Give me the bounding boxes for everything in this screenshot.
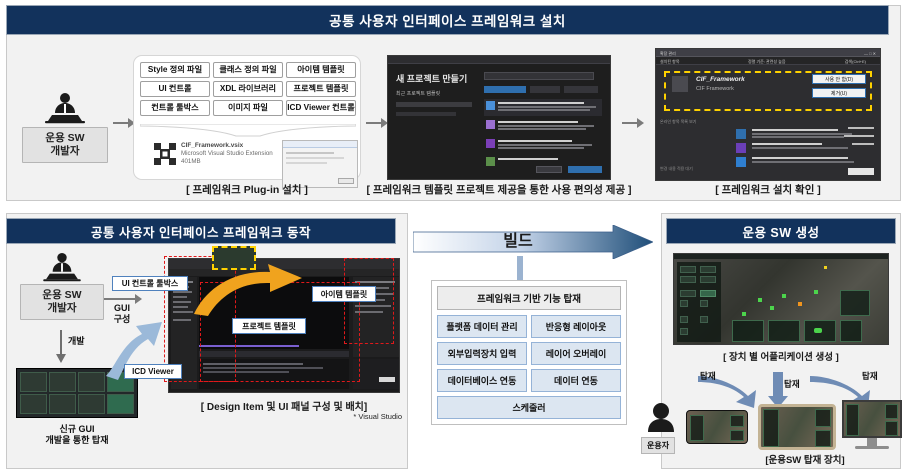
function-cell-scheduler: 스케줄러 (437, 396, 621, 419)
extension-disable-button[interactable]: 사용 안 함(D) (812, 74, 866, 84)
footnote-visual-studio: * Visual Studio (166, 412, 402, 421)
tactical-app-screenshot (673, 253, 889, 345)
build-label: 빌드 (413, 227, 623, 251)
caption-template-project: [ 프레임워크 템플릿 프로젝트 제공을 통한 사용 편의성 제공 ] (362, 182, 636, 197)
tag-icd-viewer: ICD Viewer (124, 364, 182, 379)
extension-name: CIF_Framework (696, 76, 745, 83)
function-cell: 플랫폼 데이터 관리 (437, 315, 527, 338)
asset-chip-grid: Style 정의 파일 클래스 정의 파일 아이템 템플릿 UI 컨트롤 XDL… (140, 62, 356, 116)
vsix-text-block: CIF_Framework.vsix Microsoft Visual Stud… (181, 142, 273, 166)
extension-subtitle: CIF Framework (696, 86, 734, 92)
device-phone (686, 410, 748, 444)
vsix-desc: Microsoft Visual Studio Extension (181, 150, 273, 157)
asset-chip: UI 컨트롤 (140, 81, 210, 97)
function-cell: 데이터베이스 연동 (437, 369, 527, 392)
asset-chip: ICD Viewer 컨트롤 (286, 100, 356, 116)
vs-extension-manager-screenshot: 확장 관리 — □ ✕ 설치된 항목 정렬 기준: 관련성 높음 검색(Ctrl… (655, 48, 881, 181)
device-tablet (758, 404, 836, 450)
deploy-label-monitor: 탑재 (862, 370, 878, 382)
caption-install-verify: [ 프레임워크 설치 확인 ] (655, 182, 881, 197)
function-cell: 레이어 오버레이 (531, 342, 621, 365)
extension-uninstall-button[interactable]: 제거(U) (812, 88, 866, 98)
developer-actor-label: 운용 SW 개발자 (22, 127, 108, 163)
caption-design-item: [ Design Item 및 UI 패널 구성 및 배치] (166, 398, 402, 413)
tag-ui-control-toolbox: UI 컨트롤 툴박스 (112, 276, 188, 291)
vsix-name: CIF_Framework.vsix (181, 142, 243, 149)
asset-chip: 클래스 정의 파일 (213, 62, 283, 78)
label-new-gui: 신규 GUI 개발을 통한 탑재 (10, 424, 144, 446)
asset-chip: 아이템 템플릿 (286, 62, 356, 78)
vsix-package: CIF_Framework.vsix Microsoft Visual Stud… (154, 142, 273, 166)
bl-developer-actor: 운용 SW 개발자 (20, 252, 104, 320)
gui-tile (49, 372, 76, 392)
framework-functions-card: 프레임워크 기반 기능 탑재 플랫폼 데이터 관리 반응형 레이아웃 외부입력장… (431, 280, 627, 425)
build-section: 빌드 프레임워크 기반 기능 탑재 플랫폼 데이터 관리 반응형 레이아웃 외부… (413, 218, 653, 468)
arrow-dialog-to-extmgr (622, 122, 638, 124)
operator-icon (646, 402, 676, 432)
extension-close-button[interactable] (848, 168, 874, 175)
gui-tile (107, 394, 134, 414)
operator-label: 운용자 (641, 437, 675, 454)
vs-dialog-title: 새 프로젝트 만들기 (396, 72, 467, 85)
operation-section-title: 공통 사용자 인터페이스 프레임워크 동작 (6, 218, 396, 244)
vsix-size: 401MB (181, 158, 201, 165)
slide-root: 공통 사용자 인터페이스 프레임워크 설치 운용 SW 개발자 Style 정의… (0, 0, 907, 474)
function-cell: 반응형 레이아웃 (531, 315, 621, 338)
plugin-assets-card: Style 정의 파일 클래스 정의 파일 아이템 템플릿 UI 컨트롤 XDL… (133, 55, 361, 180)
caption-plugin-install: [ 프레임워크 Plug-in 설치 ] (133, 182, 361, 197)
arrow-assets-to-dialog (366, 122, 382, 124)
vsix-package-icon (154, 143, 176, 165)
vs-dialog-recent-label: 최근 프로젝트 템플릿 (396, 90, 440, 97)
asset-chip: 프로젝트 템플릿 (286, 81, 356, 97)
caption-app-generation: [ 장치 별 어플리케이션 생성 ] (665, 349, 897, 363)
vs-dialog-cancel-button[interactable] (536, 166, 562, 173)
function-cell: 데이터 연동 (531, 369, 621, 392)
funnel-shape (140, 124, 356, 138)
device-monitor (842, 400, 902, 452)
extension-icon (672, 76, 688, 92)
framework-functions-title: 프레임워크 기반 기능 탑재 (437, 286, 621, 310)
tag-item-template: 아이템 템플릿 (312, 286, 376, 302)
developer-actor: 운용 SW 개발자 (22, 92, 108, 163)
generation-section-title: 운용 SW 생성 (666, 218, 896, 244)
arrow-drag-to-canvas (186, 262, 306, 318)
deploy-label-phone: 탑재 (700, 370, 716, 382)
deploy-label-tablet: 탑재 (784, 378, 800, 390)
framework-functions-grid: 플랫폼 데이터 관리 반응형 레이아웃 외부입력장치 입력 레이어 오버레이 데… (437, 315, 621, 419)
arrow-actor-to-assets (113, 122, 129, 124)
asset-chip: Style 정의 파일 (140, 62, 210, 78)
gui-tile (49, 394, 76, 414)
install-section-title: 공통 사용자 인터페이스 프레임워크 설치 (6, 5, 889, 35)
vs-dialog-next-button[interactable] (568, 166, 602, 173)
developer-laptop-icon (41, 252, 83, 282)
developer-laptop-icon (43, 92, 87, 124)
caption-deploy-devices: [운용SW 탑재 장치] (740, 452, 870, 466)
tag-project-template: 프로젝트 템플릿 (232, 318, 306, 334)
asset-chip: 이미지 파일 (213, 100, 283, 116)
installer-dialog-thumb (282, 140, 358, 188)
gui-tile (20, 372, 47, 392)
gui-tile (78, 394, 105, 414)
bl-developer-actor-label: 운용 SW 개발자 (20, 284, 104, 320)
asset-chip: 컨트롤 툴박스 (140, 100, 210, 116)
vs-new-project-screenshot: 새 프로젝트 만들기 최근 프로젝트 템플릿 (387, 55, 611, 180)
asset-chip: XDL 라이브러리 (213, 81, 283, 97)
arrow-gui-compose (104, 298, 136, 300)
function-cell: 외부입력장치 입력 (437, 342, 527, 365)
gui-tile (20, 394, 47, 414)
